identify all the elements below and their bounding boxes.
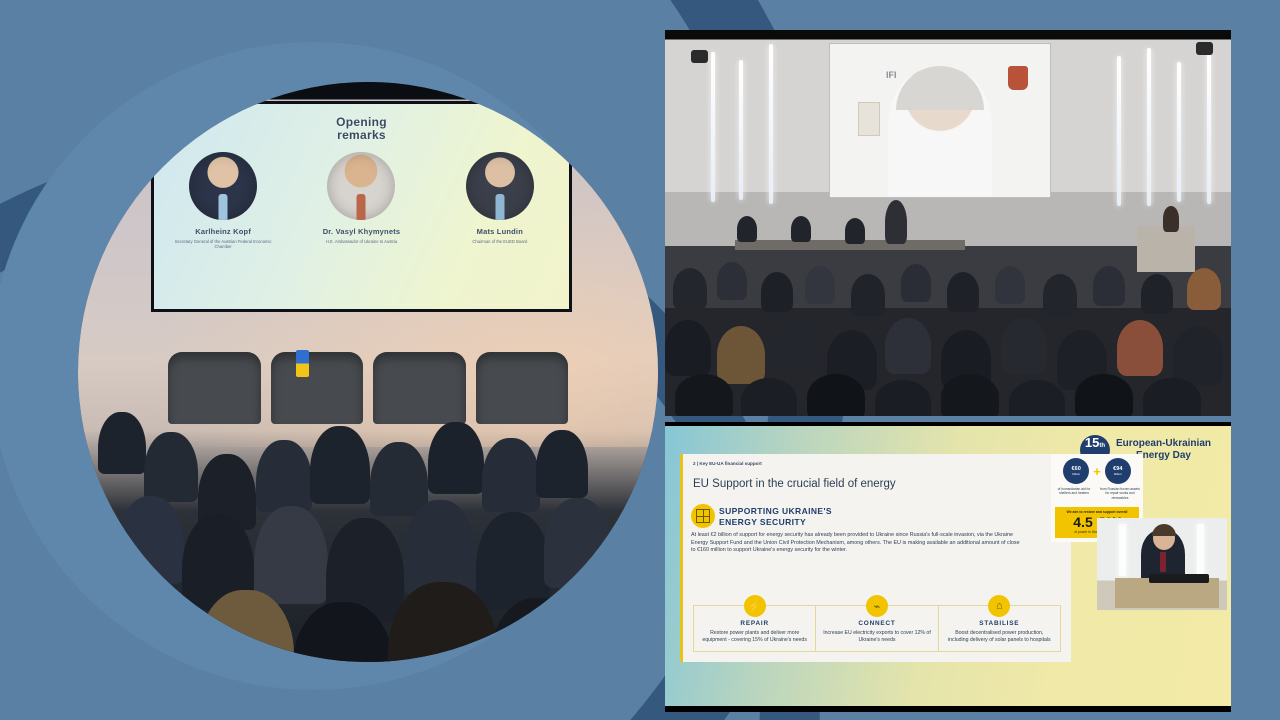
auditorium-video-panel[interactable]: IFI [665, 30, 1231, 416]
laptop-icon [1149, 574, 1209, 583]
speaker-role: Chairman of the EUED Board [445, 239, 555, 244]
pillar-title: CONNECT [822, 620, 931, 627]
section-heading: SUPPORTING UKRAINE'S ENERGY SECURITY [719, 506, 832, 528]
event-logo-line1: European-Ukrainian [1116, 438, 1211, 450]
light-tube [1197, 524, 1204, 576]
speaker-card: Karlheinz Kopf Secretary General of the … [168, 152, 278, 250]
speaker-card: Mats Lundin Chairman of the EUED Board [445, 152, 555, 250]
ukraine-flag-icon [296, 350, 309, 377]
chair [168, 352, 261, 424]
panelist [737, 216, 757, 242]
wall-frame [858, 102, 880, 136]
presentation-slide: 15th European-Ukrainian Energy Day 2 | K… [665, 426, 1231, 706]
pillar-connect: ⌁ CONNECT Increase EU electricity export… [816, 606, 938, 651]
pylon-icon: ⌁ [866, 595, 888, 617]
slide-video-panel[interactable]: 15th European-Ukrainian Energy Day 2 | K… [665, 422, 1231, 712]
light-tube [1119, 524, 1126, 576]
remote-speaker-hair [896, 66, 984, 110]
event-logo-ordinal: th [1099, 443, 1105, 449]
pillars-row: ⚡ REPAIR Restore power plants and delive… [693, 605, 1061, 652]
speaker-camera-inset [1097, 518, 1227, 610]
slide-heading: EU Support in the crucial field of energ… [693, 478, 896, 490]
stage-light-right [1196, 42, 1213, 55]
amount-unit: billion [1114, 472, 1122, 476]
conference-room-video-circle[interactable]: 15 Opening remarks Karlheinz Kopf Secret… [78, 82, 658, 662]
chair [271, 352, 364, 424]
slide-kicker: 2 | Key EU-UA financial support [693, 461, 762, 466]
projection-screen-large: IFI [830, 44, 1050, 197]
ifi-logo: IFI [886, 70, 897, 80]
avatar [189, 152, 257, 220]
amount-caption: of humanitarian aid for shelters and hea… [1053, 487, 1095, 500]
chair [476, 352, 569, 424]
pillar-text: Restore power plants and deliver more eq… [700, 630, 809, 644]
amount-circle: €94 billion [1105, 458, 1131, 484]
solar-panel-icon [691, 504, 715, 528]
amount-circles: €60 billion + €94 billion [1051, 458, 1143, 484]
slide-title-line2: remarks [154, 129, 569, 142]
lectern [1137, 226, 1195, 272]
panelist [791, 216, 811, 242]
slide-title: Opening remarks [154, 116, 569, 142]
amount-unit: billion [1072, 472, 1080, 476]
moderator-figure [1163, 206, 1179, 232]
speaker-list: Karlheinz Kopf Secretary General of the … [154, 152, 569, 250]
amount-captions: of humanitarian aid for shelters and hea… [1053, 487, 1141, 500]
speaker-tie [1160, 552, 1166, 572]
section-heading-line1: SUPPORTING UKRAINE'S [719, 506, 832, 517]
avatar [466, 152, 534, 220]
pillar-title: STABILISE [945, 620, 1054, 627]
stage-light-left [691, 50, 708, 63]
factory-repair-icon: ⚡ [744, 595, 766, 617]
panelist [845, 218, 865, 244]
speaker-role: Secretary General of the Austrian Federa… [168, 239, 278, 250]
plus-operator: + [1093, 464, 1101, 479]
speaker-role: H.E. Ambassador of Ukraine to Austria [306, 239, 416, 244]
avatar [327, 152, 395, 220]
event-logo-number: 15 [1085, 435, 1099, 450]
pillar-repair: ⚡ REPAIR Restore power plants and delive… [694, 606, 816, 651]
standing-host [885, 200, 907, 244]
tie-shape [357, 194, 366, 220]
speaker-name: Karlheinz Kopf [168, 227, 278, 236]
amount-circle: €60 billion [1063, 458, 1089, 484]
slide-content-card: 2 | Key EU-UA financial support EU Suppo… [680, 454, 1071, 662]
pillar-title: REPAIR [700, 620, 809, 627]
pillar-stabilise: ⌂ STABILISE Boost decentralised power pr… [939, 606, 1060, 651]
pillar-text: Boost decentralised power production, in… [945, 630, 1054, 644]
speaker-card: Dr. Vasyl Khymynets H.E. Ambassador of U… [306, 152, 416, 250]
amount-caption: from Russian frozen assets for repair wo… [1099, 487, 1141, 500]
speaker-name: Dr. Vasyl Khymynets [306, 227, 416, 236]
projection-screen: 15 Opening remarks Karlheinz Kopf Secret… [154, 104, 569, 309]
hospital-icon: ⌂ [988, 595, 1010, 617]
section-heading-line2: ENERGY SECURITY [719, 517, 832, 528]
wall-artwork [1008, 66, 1028, 90]
slide-body-text: At least €2 billion of support for energ… [691, 532, 1021, 555]
tie-shape [495, 194, 504, 220]
stage-chairs [168, 352, 568, 424]
tie-shape [219, 194, 228, 220]
speaker-name: Mats Lundin [445, 227, 555, 236]
pillar-text: Increase EU electricity exports to cover… [822, 630, 931, 644]
chair [373, 352, 466, 424]
